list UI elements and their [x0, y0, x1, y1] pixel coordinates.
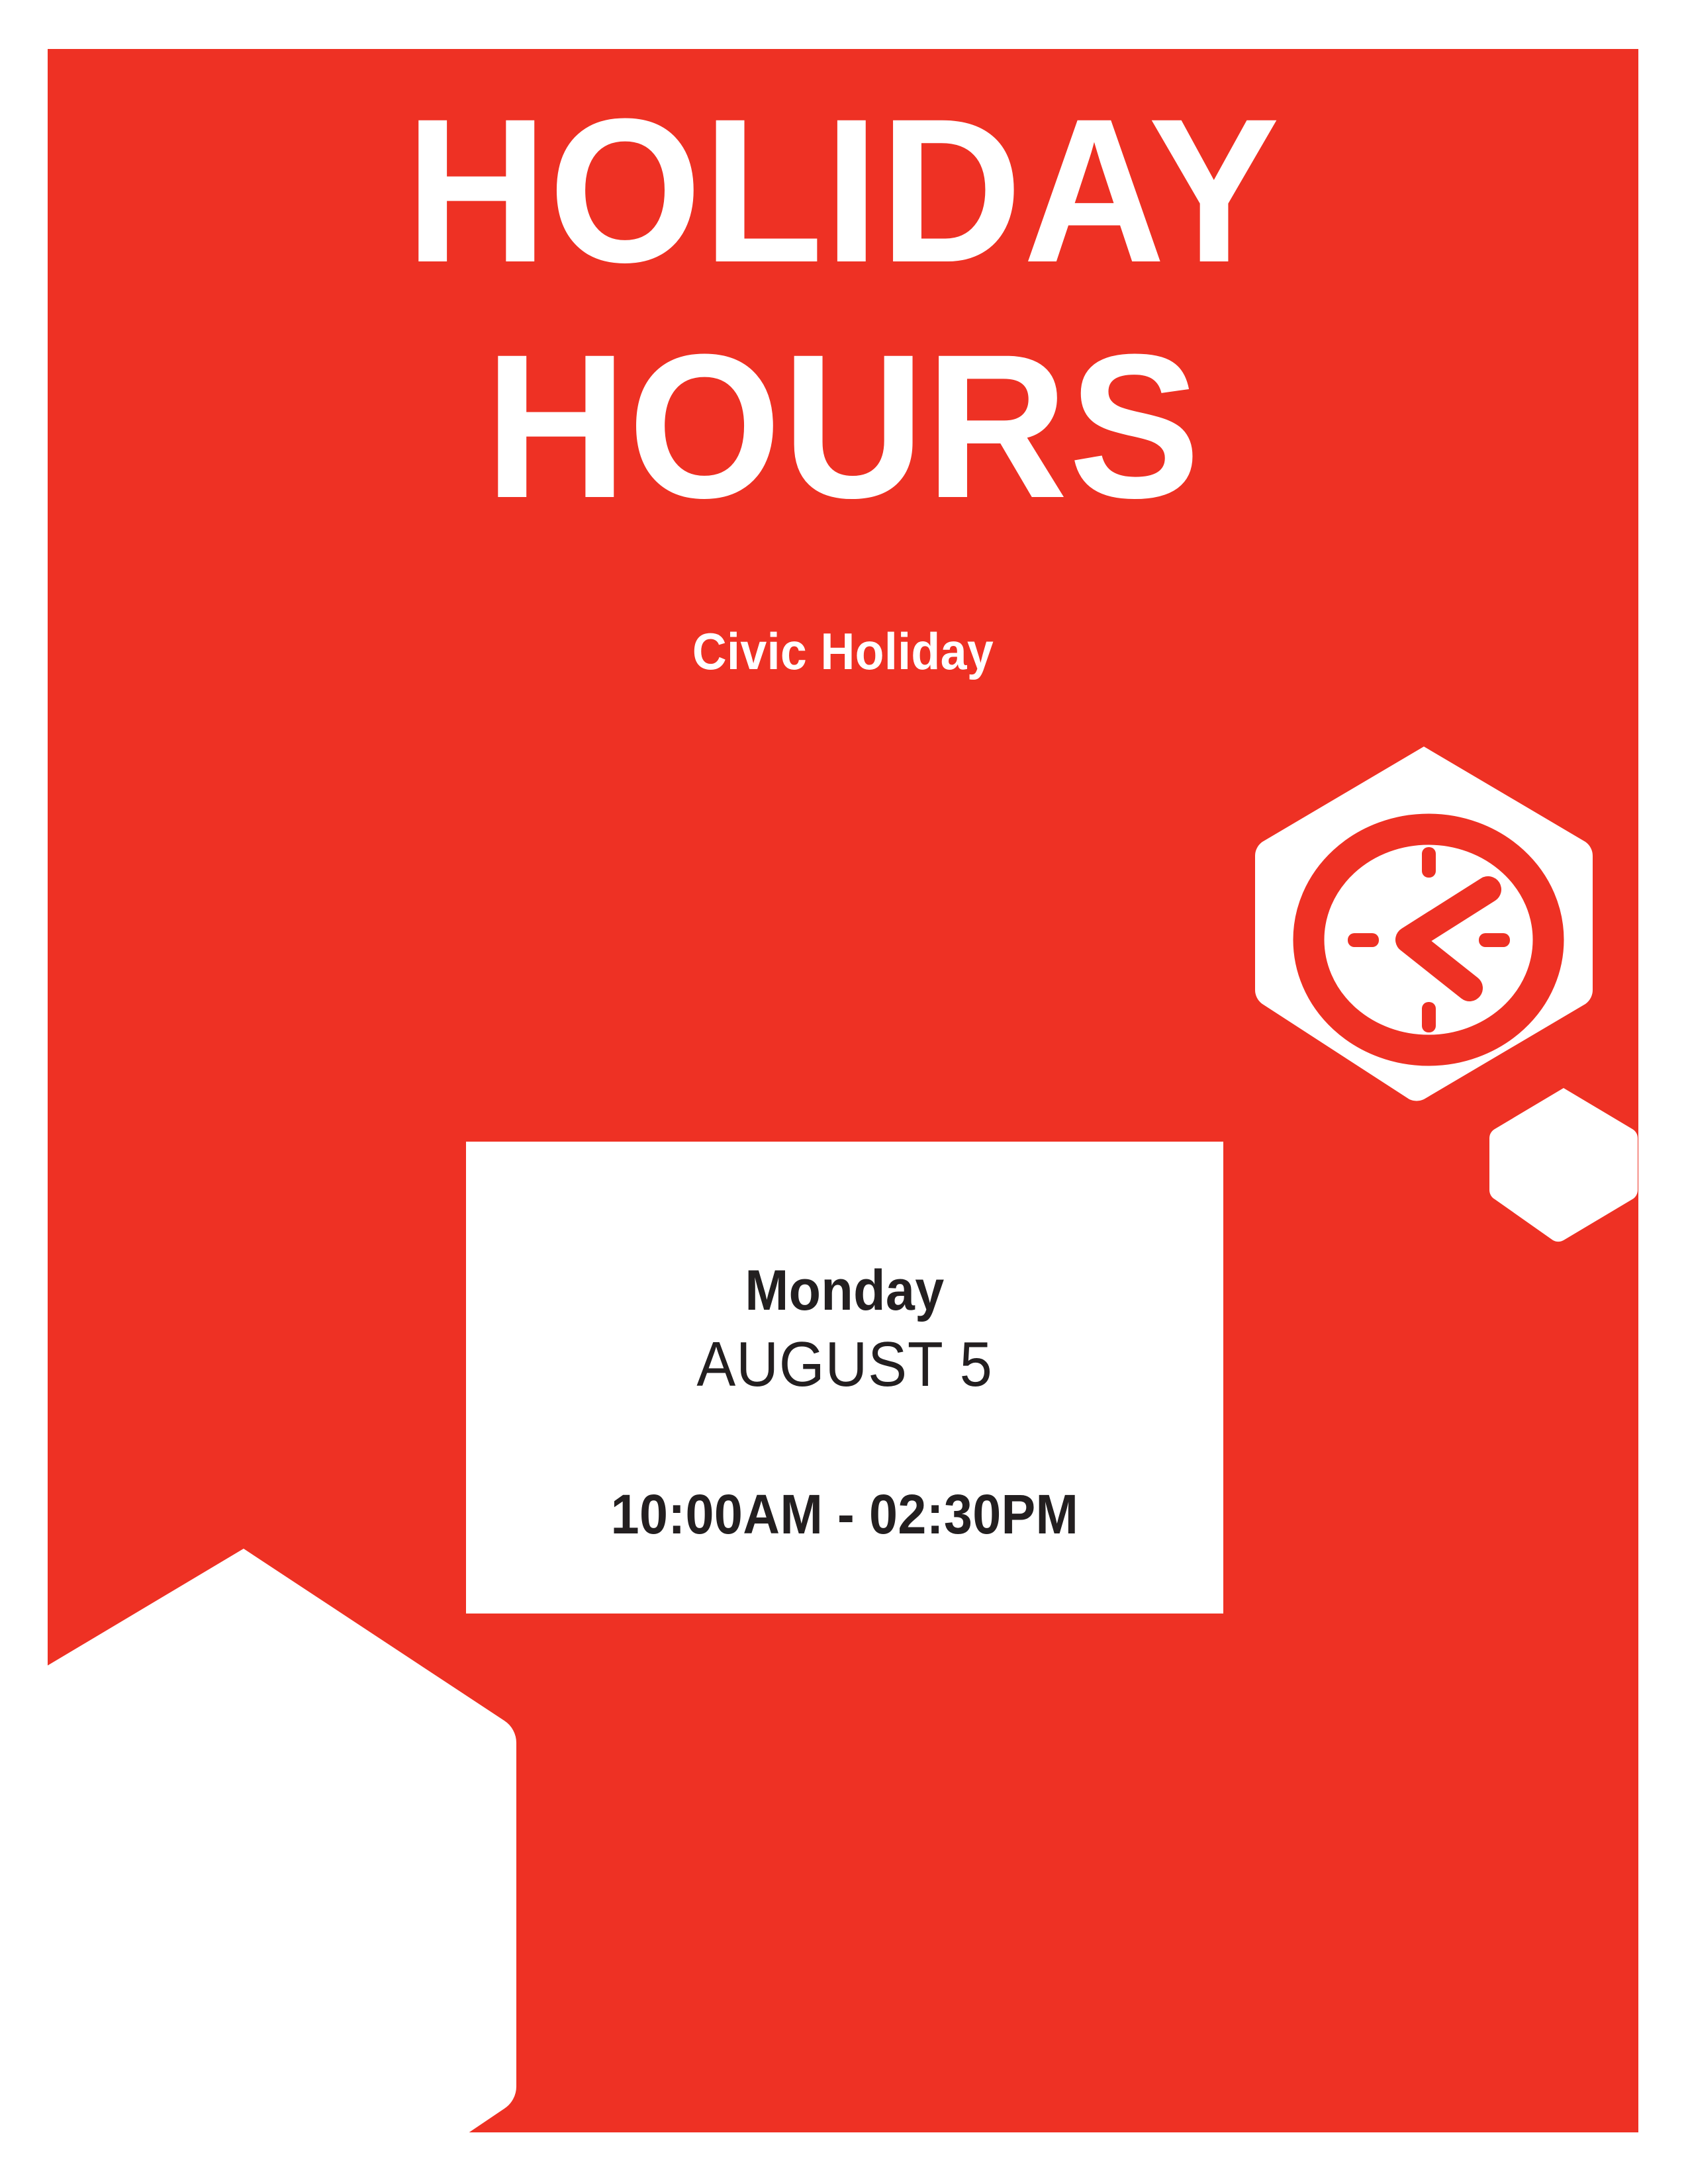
page-subtitle: Civic Holiday: [111, 621, 1575, 682]
card-day-label: Monday: [496, 1258, 1193, 1324]
page-title-line-2: HOURS: [79, 334, 1607, 518]
card-hours-label: 10:00AM - 02:30PM: [496, 1482, 1193, 1547]
red-background-panel: HOLIDAY HOURS Civic Holiday: [48, 49, 1638, 2132]
hexagon-icon: [1481, 1085, 1638, 1243]
page-title-line-1: HOLIDAY: [79, 98, 1607, 283]
poster-canvas: HOLIDAY HOURS Civic Holiday: [0, 0, 1688, 2184]
info-card: Monday AUGUST 5 10:00AM - 02:30PM: [466, 1142, 1223, 1614]
card-date-label: AUGUST 5: [496, 1328, 1193, 1401]
hexagon-clock-icon: [1251, 743, 1597, 1103]
hexagon-icon: [48, 1543, 532, 2132]
